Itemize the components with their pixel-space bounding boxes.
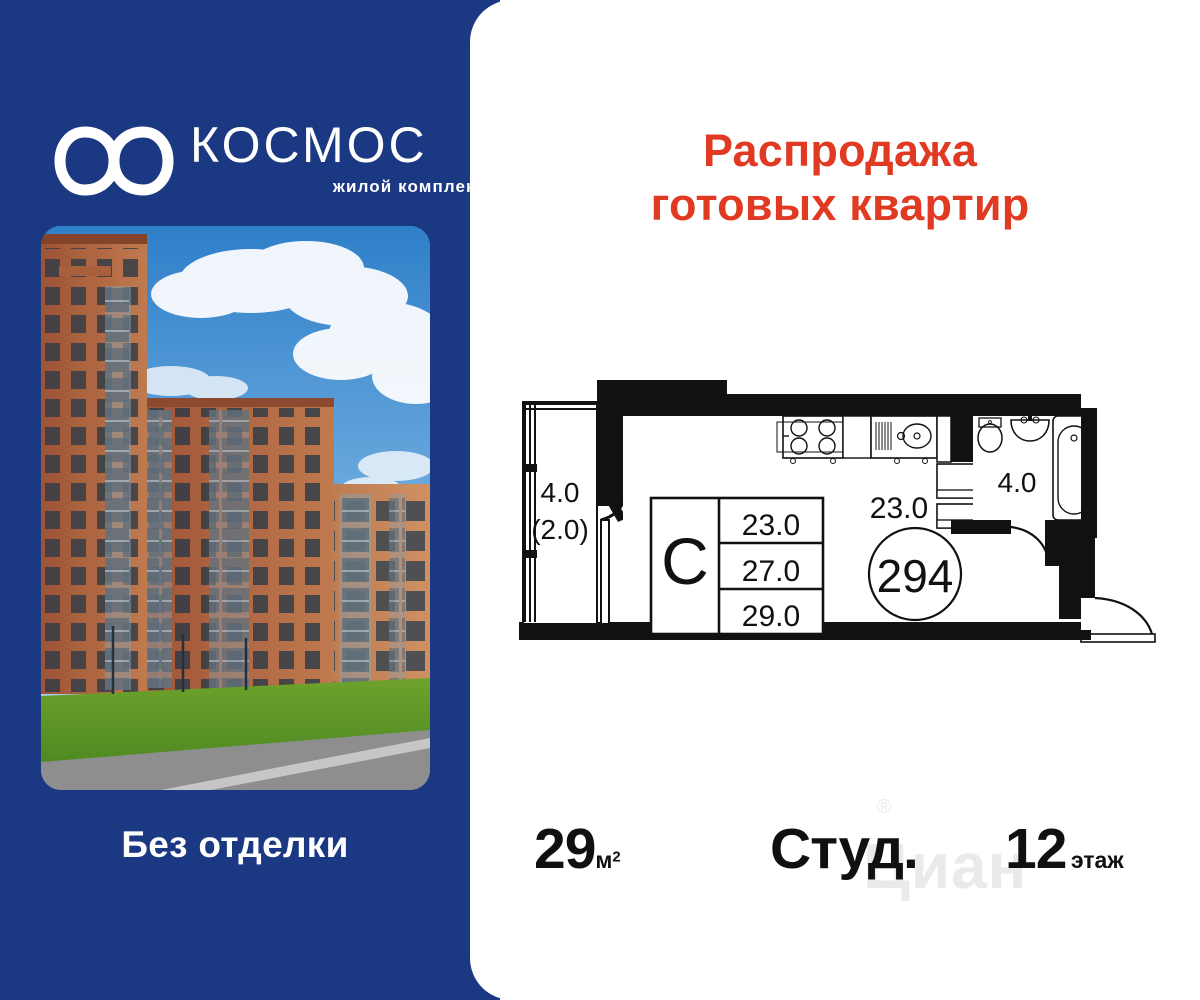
stat-floor-value: 12 xyxy=(1005,817,1066,881)
brand-logo: КОСМОС жилой комплекс xyxy=(52,118,452,214)
svg-text:23.0: 23.0 xyxy=(742,509,800,542)
stats-bar: 29м2 Студ. 12 этаж xyxy=(505,808,1185,898)
brand-panel: КОСМОС жилой комплекс xyxy=(0,0,500,1000)
headline-line-2: готовых квартир xyxy=(560,178,1120,232)
balcony-coeff-label: (2.0) xyxy=(531,514,589,545)
stat-floor-unit: этаж xyxy=(1071,847,1124,873)
stat-area-value: 29 xyxy=(534,817,595,881)
svg-text:29.0: 29.0 xyxy=(742,600,800,633)
floor-plan: 4.0 (2.0) 23.0 4.0 С 23.0 27.0 29.0 xyxy=(505,372,1165,682)
apartment-type-box: С 23.0 27.0 29.0 xyxy=(651,498,823,634)
infinity-loop-icon xyxy=(52,124,176,198)
main-room-area-label: 23.0 xyxy=(870,492,928,525)
apartment-number-badge: 294 xyxy=(869,528,961,620)
stat-rooms-value: Студ. xyxy=(770,817,918,881)
finish-caption: Без отделки xyxy=(0,824,470,866)
headline-line-1: Распродажа xyxy=(703,125,977,176)
bathroom-area-label: 4.0 xyxy=(998,467,1037,498)
brand-tagline: жилой комплекс xyxy=(190,176,490,198)
stat-rooms: Студ. xyxy=(770,816,918,882)
svg-text:27.0: 27.0 xyxy=(742,555,800,588)
brand-name: КОСМОС xyxy=(190,118,490,172)
page-title: Распродажа готовых квартир xyxy=(560,124,1120,232)
stat-floor: 12 этаж xyxy=(1005,816,1124,882)
listing-card: КОСМОС жилой комплекс xyxy=(0,0,1200,1000)
svg-text:С: С xyxy=(661,524,709,598)
building-photo xyxy=(41,226,430,790)
balcony-area-label: 4.0 xyxy=(541,477,580,508)
svg-text:294: 294 xyxy=(877,550,954,602)
stat-area-unit: м xyxy=(595,847,612,873)
stat-area: 29м2 xyxy=(534,816,621,882)
stat-area-unit-sup: 2 xyxy=(612,849,620,866)
brand-text: КОСМОС жилой комплекс xyxy=(190,118,490,198)
